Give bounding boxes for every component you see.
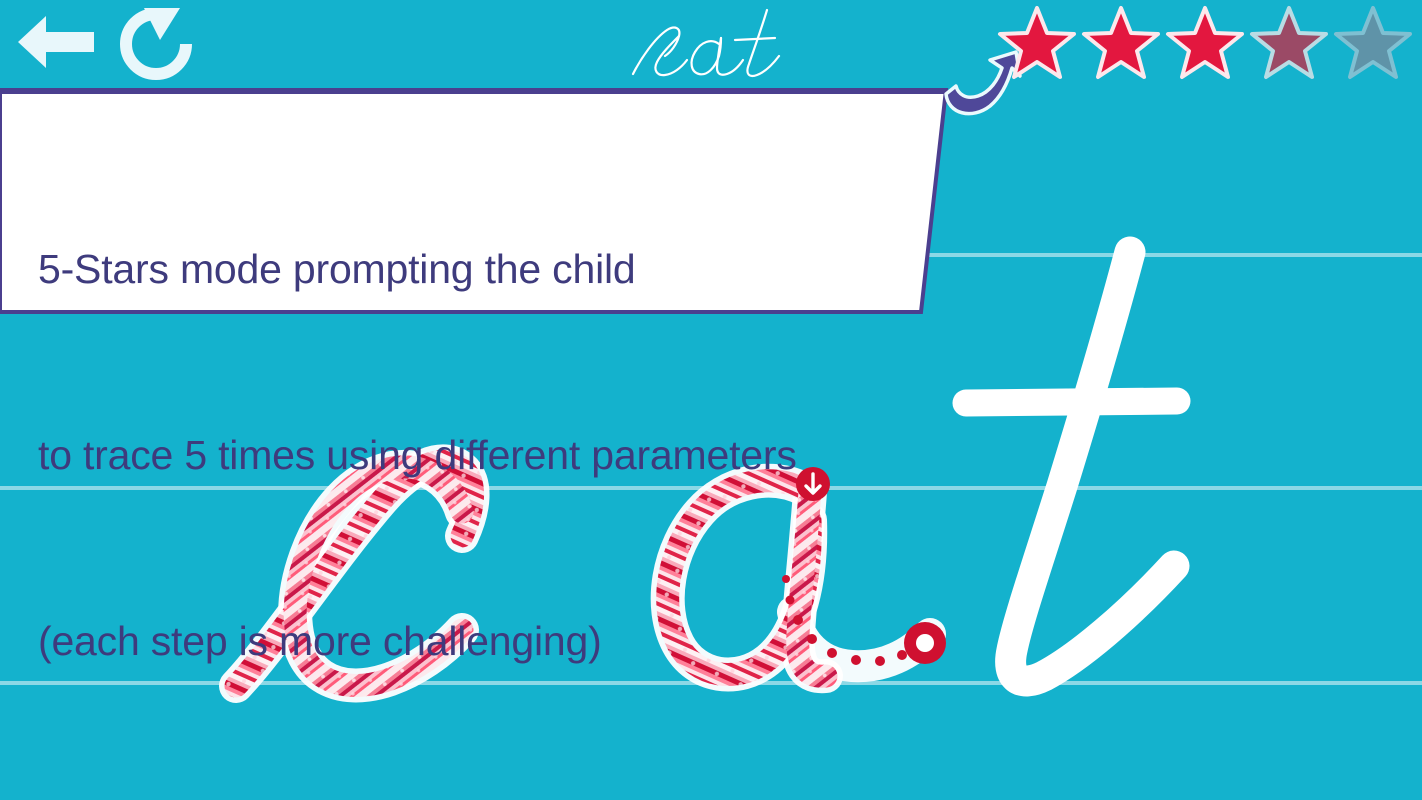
callout-text: 5-Stars mode prompting the child to trac… <box>38 114 918 796</box>
star-3[interactable] <box>1164 2 1246 84</box>
star-4[interactable] <box>1248 2 1330 84</box>
letter-t <box>966 252 1177 681</box>
star-rating <box>996 2 1414 84</box>
top-bar: cat <box>0 0 1422 90</box>
instruction-callout: 5-Stars mode prompting the child to trac… <box>0 88 960 316</box>
star-2[interactable] <box>1080 2 1162 84</box>
callout-line-1: 5-Stars mode prompting the child <box>38 238 918 300</box>
star-1[interactable] <box>996 2 1078 84</box>
app-root: 5-Stars mode prompting the child to trac… <box>0 0 1422 800</box>
star-5[interactable] <box>1332 2 1414 84</box>
callout-line-3: (each step is more challenging) <box>38 610 918 672</box>
refresh-button[interactable] <box>116 4 196 84</box>
callout-line-2: to trace 5 times using different paramet… <box>38 424 918 486</box>
back-button[interactable] <box>12 8 98 76</box>
word-title: cat <box>615 0 845 91</box>
